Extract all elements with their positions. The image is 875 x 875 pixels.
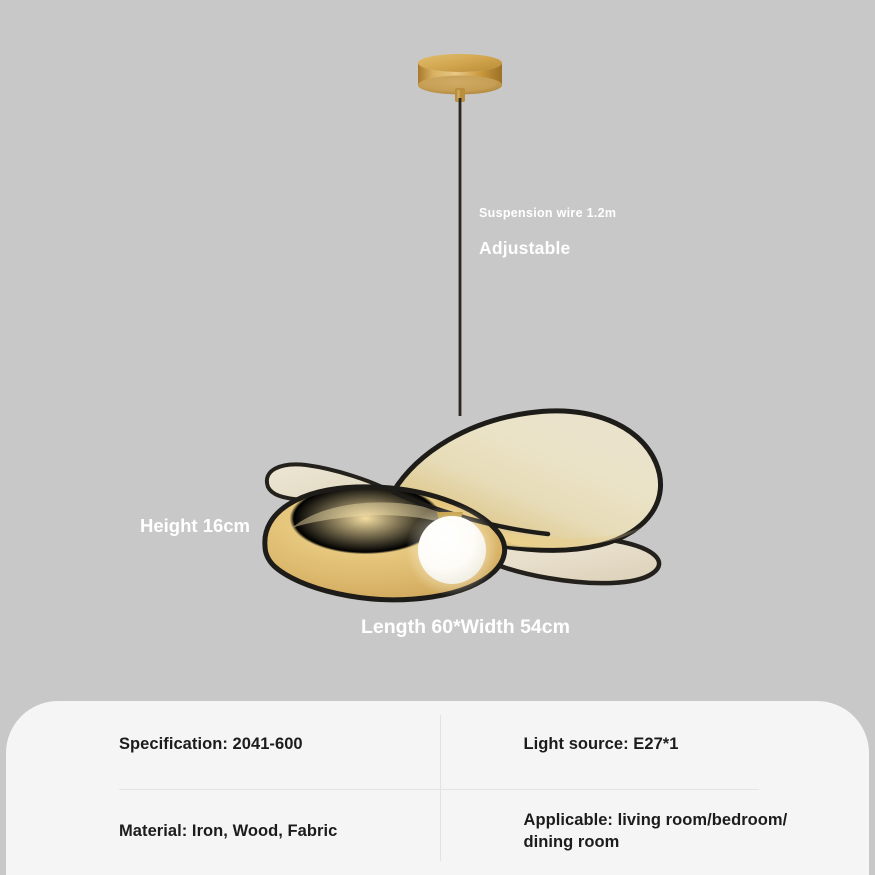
product-image: Suspension wire 1.2m Adjustable Height 1… bbox=[0, 0, 875, 712]
annotation-suspension-wire: Suspension wire 1.2m bbox=[479, 206, 616, 220]
spec-cell-specification: Specification: 2041-600 bbox=[6, 701, 438, 788]
spec-divider-horizontal bbox=[119, 789, 759, 790]
spec-light-source: Light source: E27*1 bbox=[524, 734, 679, 756]
annotation-adjustable: Adjustable bbox=[479, 238, 570, 259]
annotation-length-width: Length 60*Width 54cm bbox=[361, 616, 570, 639]
product-detail-page: 2041-600 Chandelier bbox=[0, 0, 875, 875]
spec-cell-applicable: Applicable: living room/bedroom/ dining … bbox=[438, 788, 870, 875]
annotation-height: Height 16cm bbox=[140, 515, 250, 537]
globe-bulb-icon bbox=[418, 516, 486, 584]
spec-divider-vertical bbox=[440, 715, 441, 861]
spec-specification: Specification: 2041-600 bbox=[119, 734, 303, 756]
spec-material: Material: Iron, Wood, Fabric bbox=[119, 821, 337, 843]
spec-applicable: Applicable: living room/bedroom/ dining … bbox=[524, 810, 788, 854]
chandelier-illustration bbox=[0, 0, 875, 712]
image-background bbox=[0, 0, 875, 712]
specification-grid: Specification: 2041-600 Light source: E2… bbox=[6, 701, 869, 875]
specification-panel: Specification: 2041-600 Light source: E2… bbox=[6, 701, 869, 875]
suspension-cord bbox=[459, 98, 462, 416]
spec-cell-material: Material: Iron, Wood, Fabric bbox=[6, 788, 438, 875]
spec-cell-light-source: Light source: E27*1 bbox=[438, 701, 870, 788]
bulb-assembly bbox=[406, 504, 498, 596]
